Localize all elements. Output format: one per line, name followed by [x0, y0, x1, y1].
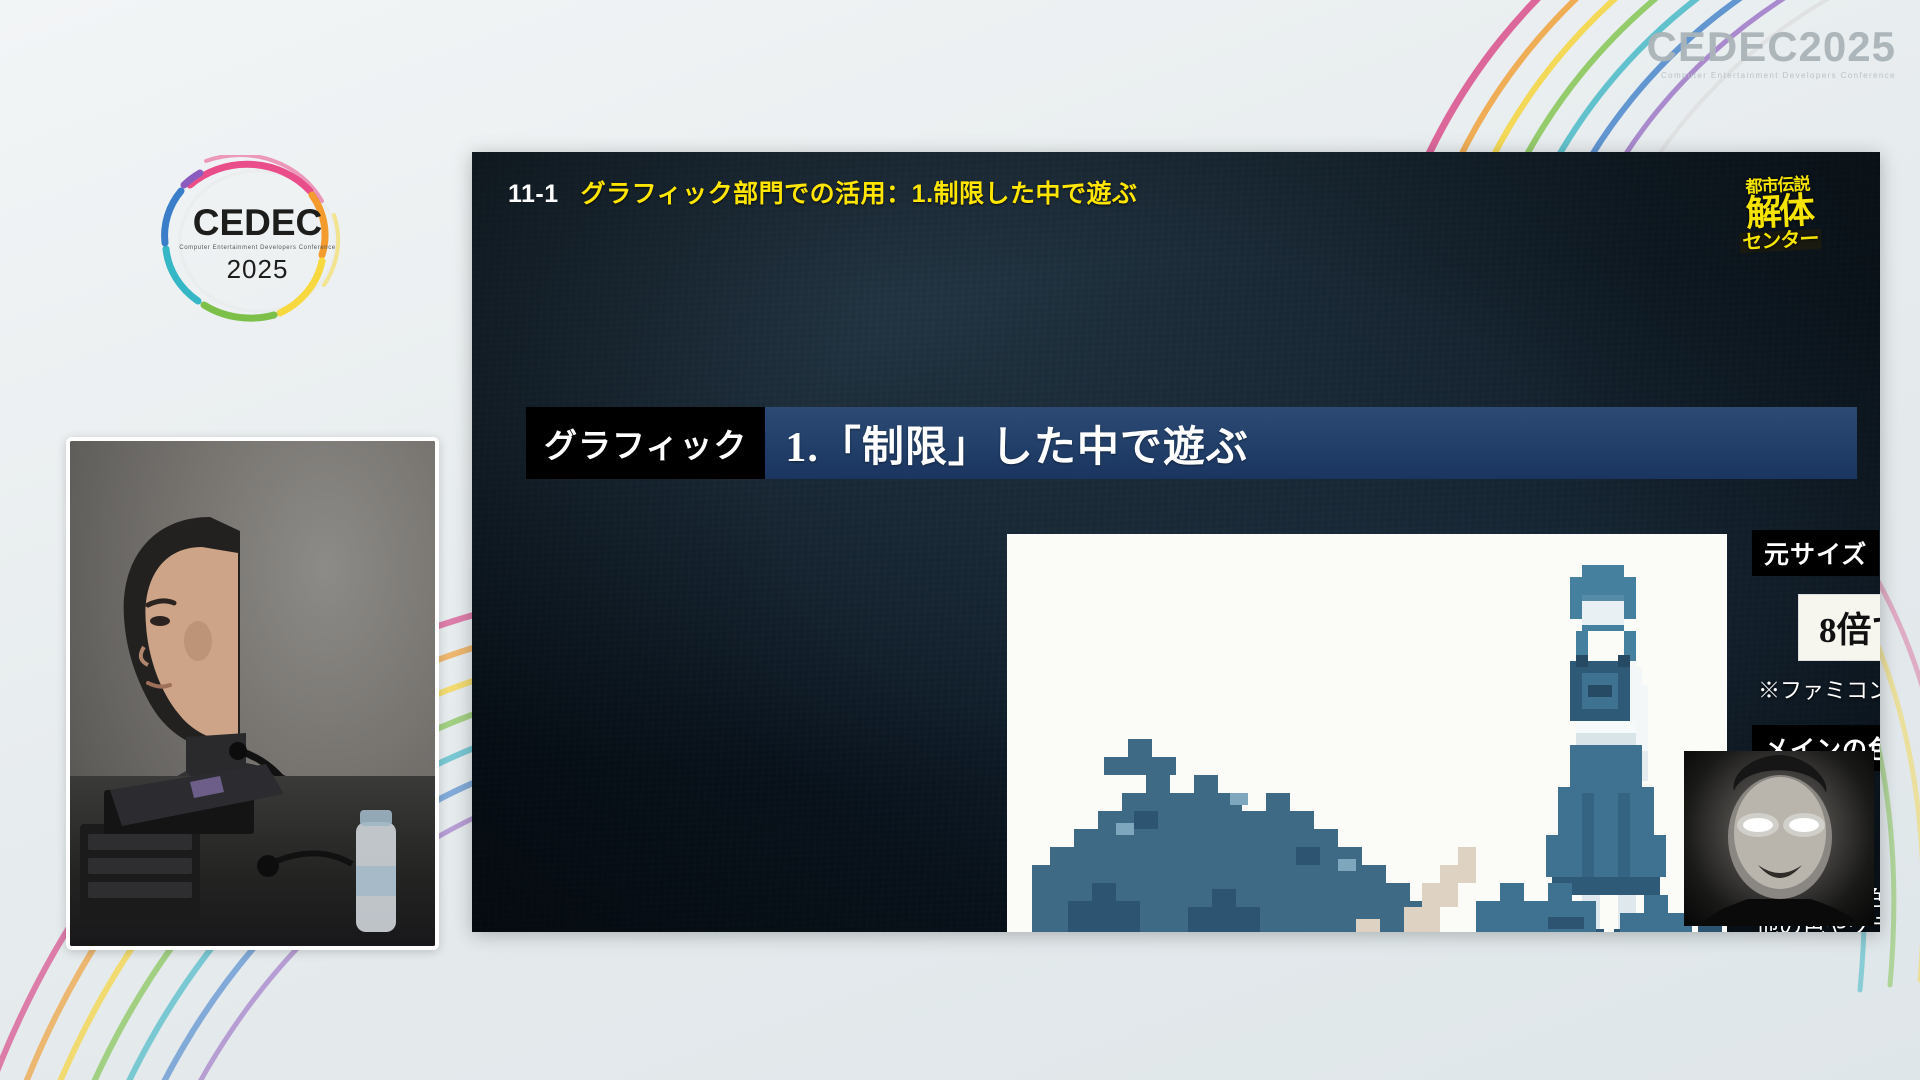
cedec-wordmark-sub: Computer Entertainment Developers Confer…	[1647, 72, 1896, 80]
game-logo-bottom: センター	[1739, 228, 1822, 252]
game-screenshot	[1007, 534, 1727, 932]
slide-title-tag: グラフィック	[526, 407, 765, 479]
fullhd-callout: 8倍でフルHDサイズ	[1798, 594, 1880, 661]
famicom-note: ※ファミコンが256×240	[1758, 673, 1880, 705]
slide-header: 11-1 グラフィック部門での活用：1.制限した中で遊ぶ	[508, 174, 1138, 210]
original-size-label: 元サイズ	[1752, 530, 1879, 576]
speaker-video-panel	[66, 437, 439, 950]
cedec-wordmark: CEDEC2025 Computer Entertainment Develop…	[1647, 26, 1896, 80]
game-title-logo: 都市伝説 解体 センター	[1702, 164, 1857, 264]
game-logo-mid: 解体	[1745, 194, 1813, 232]
cedec-ring-logo: CEDEC Computer Entertainment Developers …	[150, 155, 365, 330]
presentation-slide: 11-1 グラフィック部門での活用：1.制限した中で遊ぶ 都市伝説 解体 センタ…	[472, 152, 1880, 932]
slide-header-text: グラフィック部門での活用：1.制限した中で遊ぶ	[581, 174, 1138, 210]
game-character-camera	[1684, 751, 1874, 926]
presentation-stage: CEDEC2025 Computer Entertainment Develop…	[0, 0, 1920, 1080]
cedec-logo-main: CEDEC	[193, 204, 323, 241]
original-size-row: 元サイズ 240px×135px	[1752, 530, 1880, 576]
glowing-eyes-face-icon	[1684, 751, 1874, 926]
desk-equipment-icon	[70, 746, 439, 946]
slide-header-number: 11-1	[508, 180, 559, 209]
pixel-art-scene-icon	[1008, 535, 1727, 932]
slide-title-main: 1.「制限」した中で遊ぶ	[765, 407, 1857, 479]
cedec-logo-sub: Computer Entertainment Developers Confer…	[179, 245, 335, 251]
slide-title-row: グラフィック 1.「制限」した中で遊ぶ	[526, 407, 1857, 479]
cedec-wordmark-main: CEDEC2025	[1647, 26, 1896, 68]
cedec-logo-year: 2025	[227, 256, 289, 282]
